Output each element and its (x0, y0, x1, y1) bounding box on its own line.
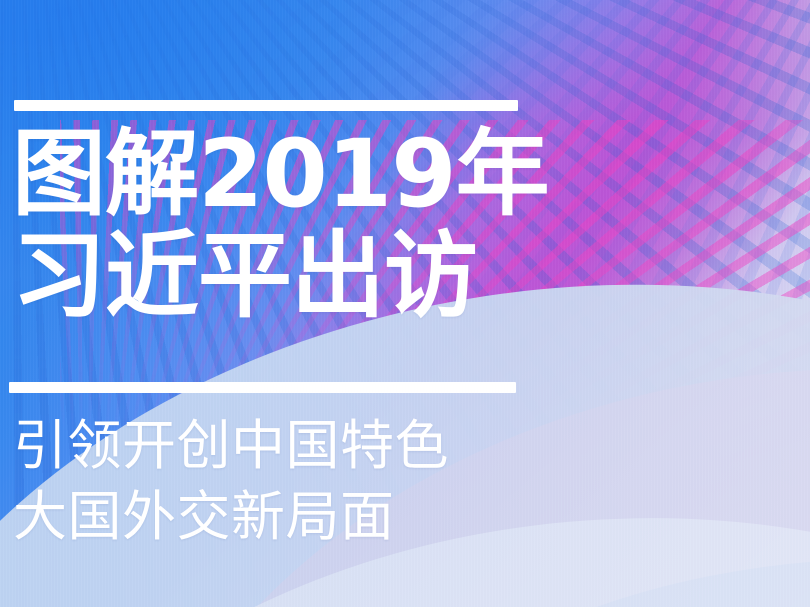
middle-divider-rule (9, 382, 516, 393)
poster-canvas: 图解2019年 习近平出访 引领开创中国特色 大国外交新局面 (0, 0, 810, 607)
subtitle-line-2: 大国外交新局面 (13, 481, 573, 552)
top-divider-rule (14, 100, 518, 111)
title-line-2: 习近平出访 (12, 226, 572, 328)
page-title: 图解2019年 习近平出访 (12, 124, 572, 327)
title-line-1: 图解2019年 (12, 124, 572, 226)
subtitle-line-1: 引领开创中国特色 (13, 410, 573, 481)
page-subtitle: 引领开创中国特色 大国外交新局面 (13, 410, 573, 553)
poster-content: 图解2019年 习近平出访 引领开创中国特色 大国外交新局面 (0, 0, 810, 607)
